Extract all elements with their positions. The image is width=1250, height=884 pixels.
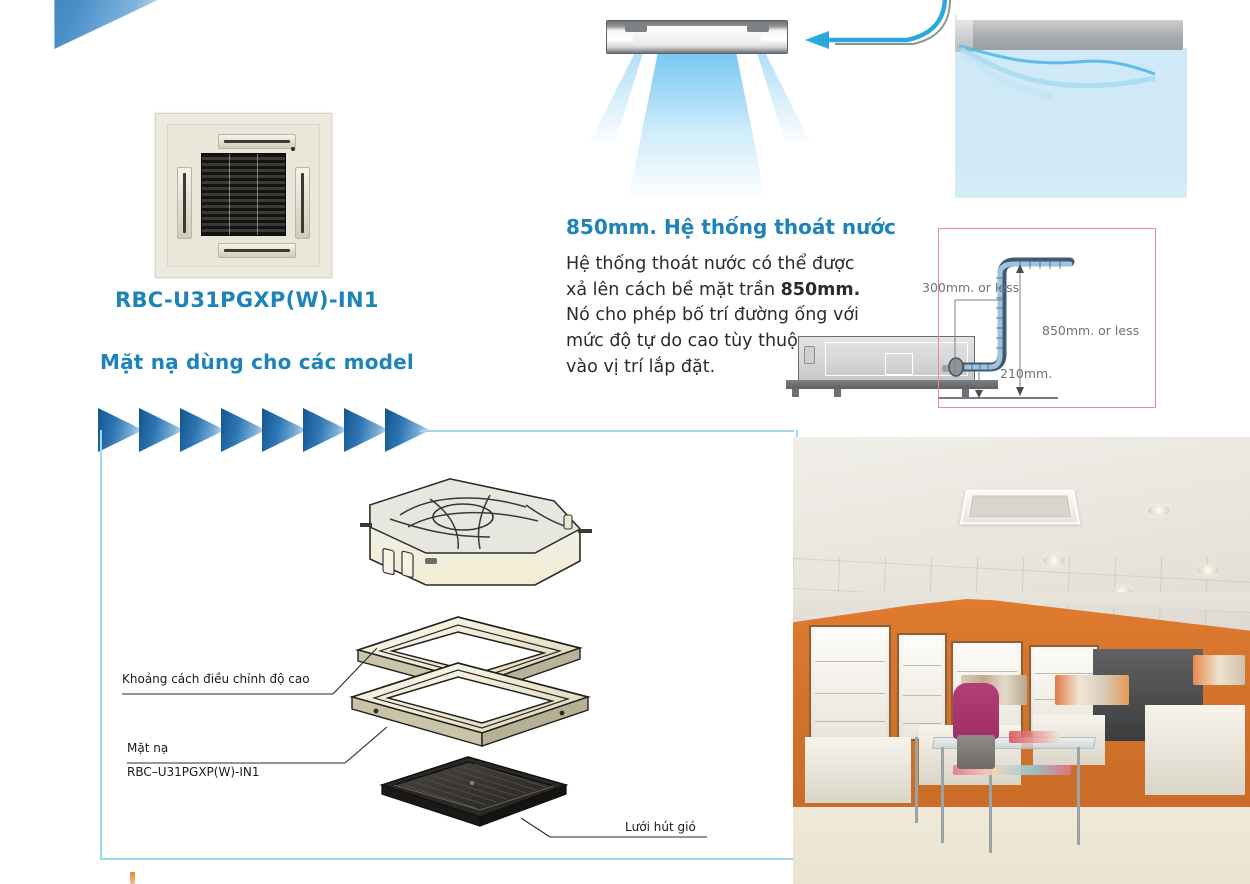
callout-intake-grille: Lưới hút gió xyxy=(625,820,696,834)
callout-height-adjustment: Khoảng cách điều chỉnh độ cao xyxy=(122,672,310,686)
cassette-panel xyxy=(167,124,320,267)
unit-leg-icon xyxy=(792,389,799,397)
dimension-label-300mm: 300mm. or less xyxy=(922,280,1019,295)
merchandise-on-counter xyxy=(1009,731,1061,743)
drain-body-line-2-bold: 850mm. xyxy=(781,280,861,300)
sensor-dot-icon xyxy=(291,147,295,151)
drain-pipe-diagram: 300mm. or less 850mm. or less 210mm. xyxy=(938,228,1156,408)
unit-leg-icon xyxy=(834,389,841,397)
drain-body-line-2-pre: xả lên cách bề mặt trần xyxy=(566,280,781,300)
airflow-spread-left xyxy=(588,50,644,146)
table-leg xyxy=(1077,747,1080,845)
cassette-product-photo xyxy=(155,113,332,278)
dimension-label-210mm: 210mm. xyxy=(1000,366,1052,381)
downlight-icon xyxy=(1043,555,1065,566)
callout-mask: Mặt nạ xyxy=(127,741,168,755)
installed-ceiling-cassette xyxy=(960,489,1080,524)
airflow-main-beam xyxy=(628,50,766,200)
display-case xyxy=(809,625,891,741)
downlight-icon xyxy=(1197,565,1219,576)
dimension-label-850mm: 850mm. or less xyxy=(1042,323,1139,338)
table-leg xyxy=(915,737,918,823)
brochure-page: RBC-U31PGXP(W)-IN1 Mặt nạ dùng cho các m… xyxy=(0,0,1250,884)
blue-corner-triangle-icon xyxy=(0,0,160,49)
indoor-unit-body xyxy=(360,479,592,585)
callout-mask-model: RBC–U31PGXP(W)-IN1 xyxy=(127,765,260,779)
unit-side-port-icon xyxy=(804,346,815,364)
clothing-rack xyxy=(1055,675,1129,705)
drain-section-heading: 850mm. Hệ thống thoát nước xyxy=(566,215,896,239)
shopper-top xyxy=(953,683,999,739)
content-frame-top-line xyxy=(420,430,794,432)
outlet-notch-left-icon xyxy=(625,23,647,32)
outlet-notch-right-icon xyxy=(747,23,769,32)
shopper-figure xyxy=(953,683,999,769)
store-counter xyxy=(805,737,911,803)
louver-bottom-icon xyxy=(218,243,296,258)
ceiling-outlet-airflow-diagram xyxy=(600,2,800,202)
cassette-intake-grille xyxy=(201,153,286,236)
downlight-icon xyxy=(1148,505,1170,516)
store-interior-photo xyxy=(793,437,1250,884)
mask-section-heading: Mặt nạ dùng cho các model xyxy=(100,350,414,374)
product-model-label: RBC-U31PGXP(W)-IN1 xyxy=(115,288,379,312)
louver-top-icon xyxy=(218,134,296,149)
airflow-arrow-icon xyxy=(795,0,970,66)
louver-left-icon xyxy=(177,167,192,239)
drain-diagram-red-frame xyxy=(938,228,1156,408)
store-counter xyxy=(1145,705,1245,795)
airflow-stream-icon xyxy=(957,44,1157,102)
clothing-rack xyxy=(1193,655,1245,685)
ceiling-outlet-unit xyxy=(606,20,788,54)
louver-right-icon xyxy=(295,167,310,239)
room-airflow-photo xyxy=(955,10,1187,198)
table-leg xyxy=(941,747,944,843)
page-marker-tick xyxy=(130,872,135,884)
shopper-skirt xyxy=(957,735,995,769)
